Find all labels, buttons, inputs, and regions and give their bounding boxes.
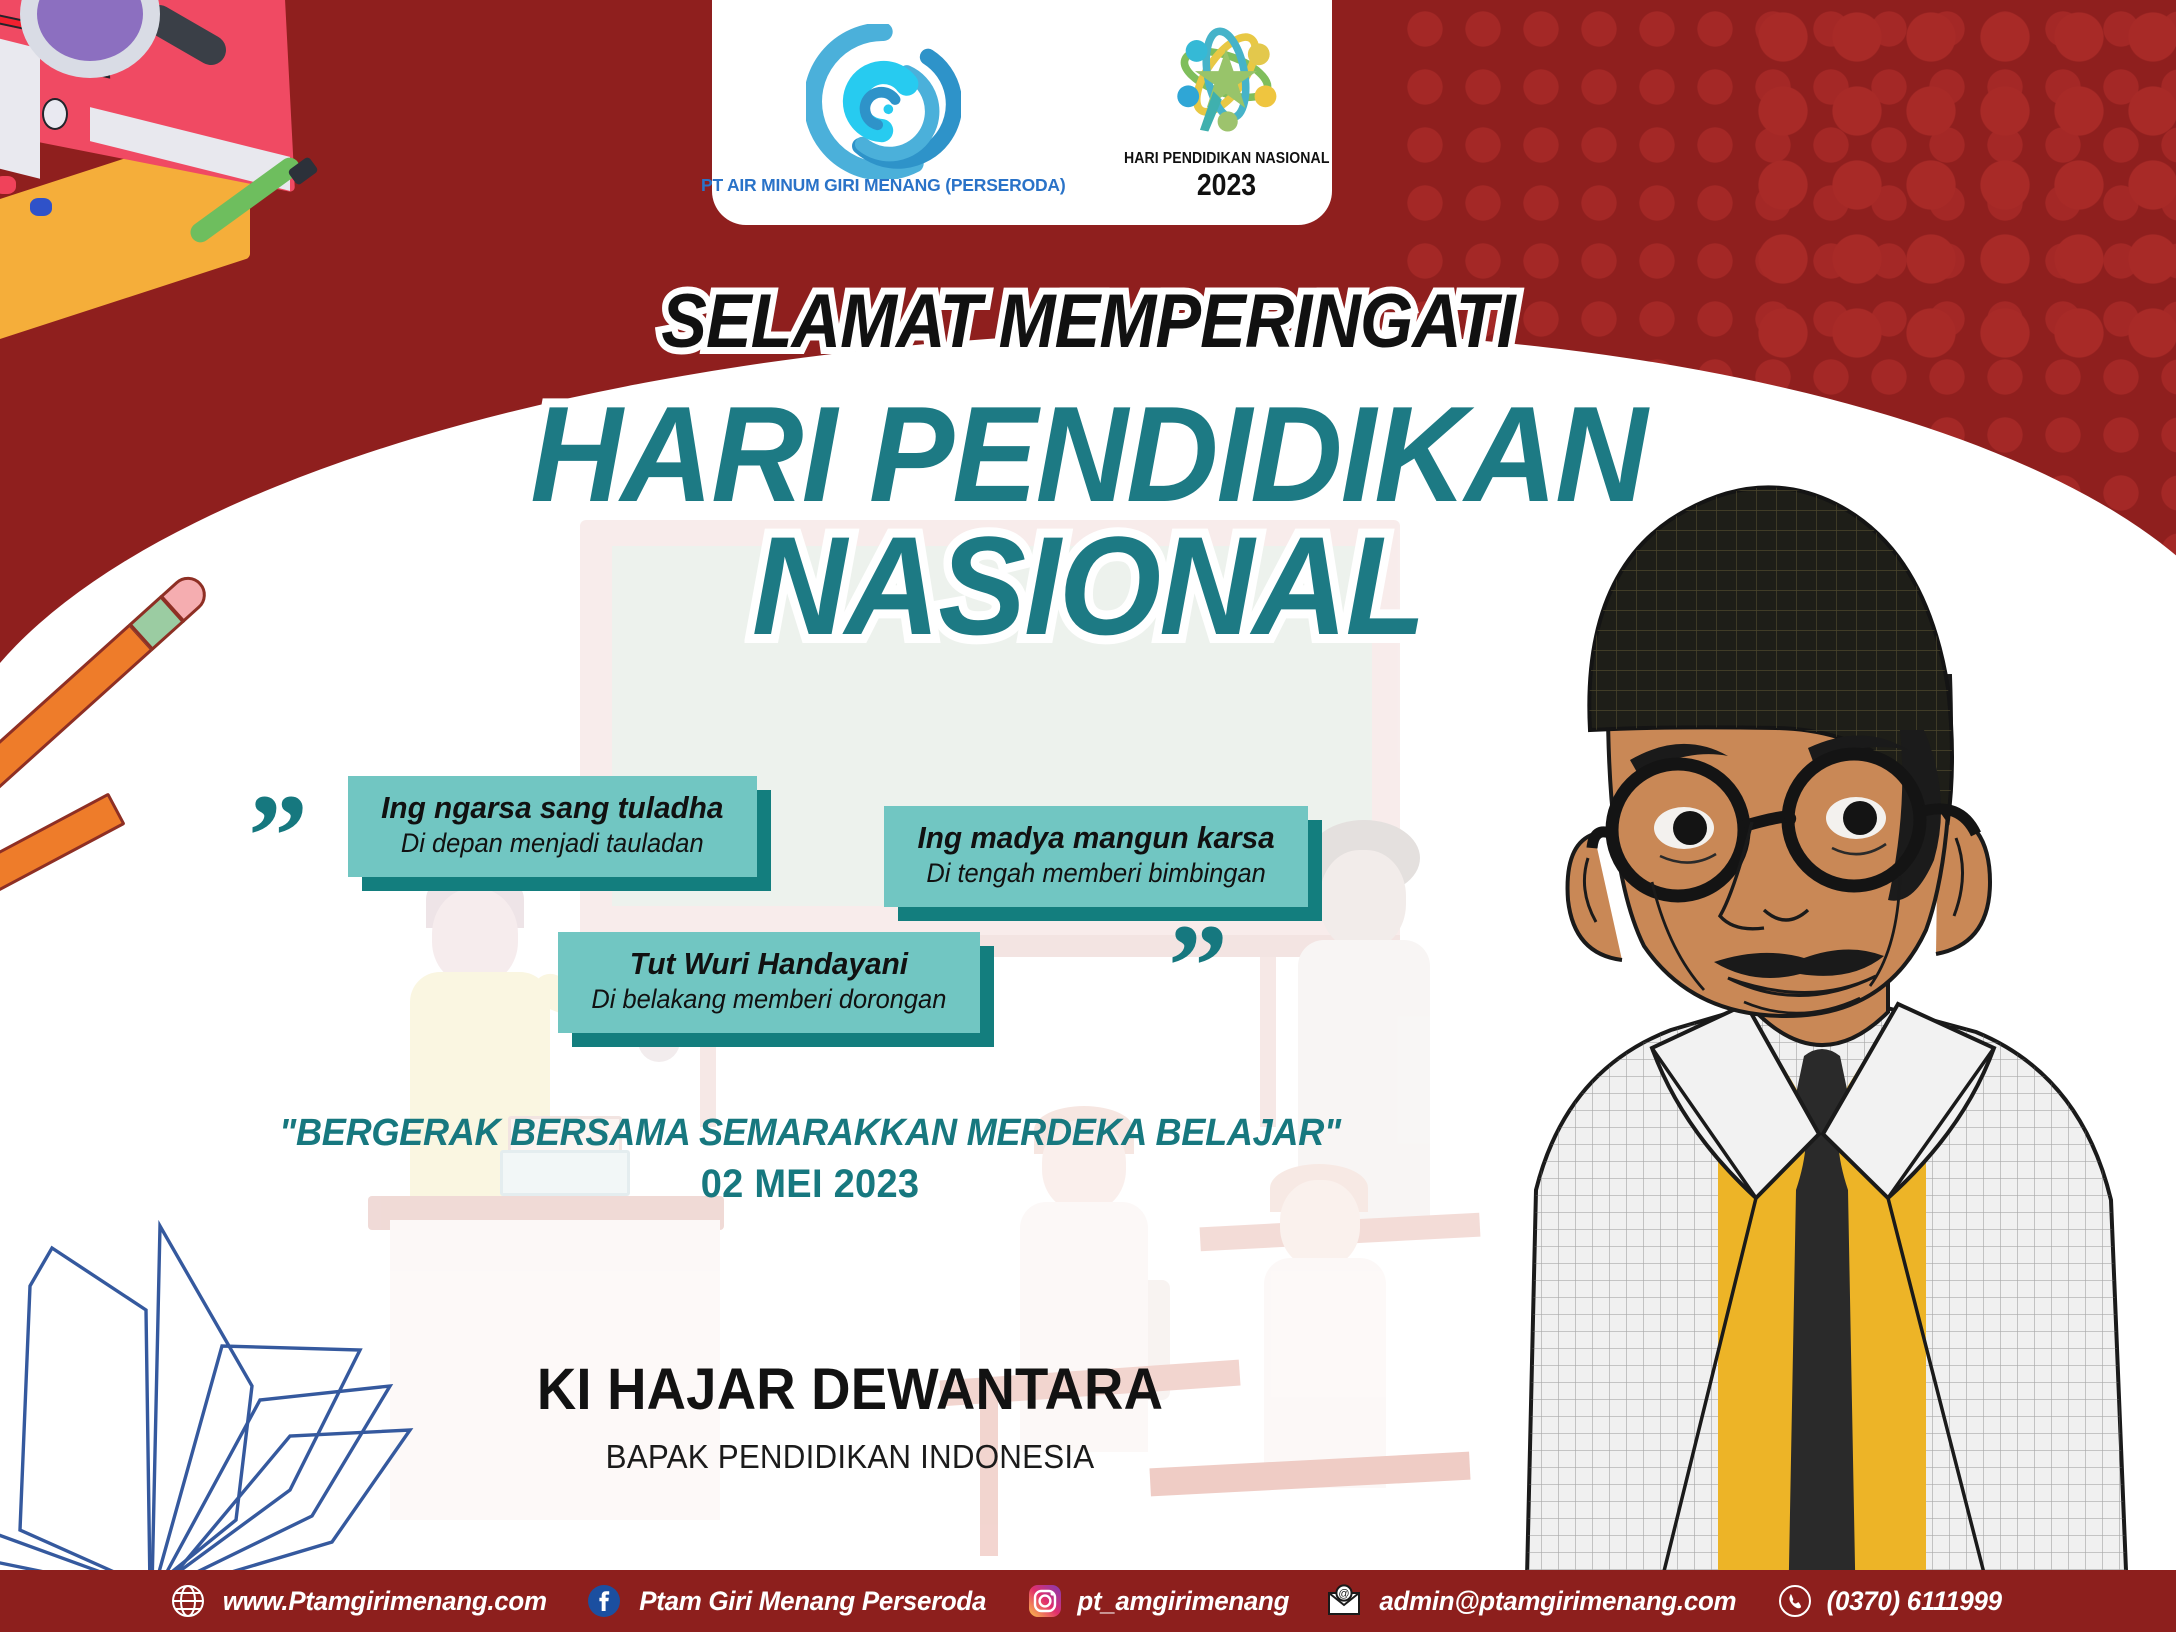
eyebrow-heading: SELAMAT MEMPERINGATI bbox=[109, 278, 2067, 365]
footer-item-facebook[interactable]: Ptam Giri Menang Perseroda bbox=[587, 1584, 993, 1618]
hardiknas-star-people-logo-icon bbox=[1163, 19, 1289, 150]
quote-box-3: Tut Wuri Handayani Di belakang memberi d… bbox=[558, 932, 980, 1033]
footer-item-phone[interactable]: (0370) 6111999 bbox=[1778, 1584, 2005, 1618]
quote-box-2: Ing madya mangun karsa Di tengah memberi… bbox=[884, 806, 1308, 907]
quote-javanese: Ing madya mangun karsa bbox=[917, 820, 1274, 856]
poster-canvas: PT AIR MINUM GIRI MENANG (PERSERODA) bbox=[0, 0, 2176, 1632]
logo-card: PT AIR MINUM GIRI MENANG (PERSERODA) bbox=[712, 0, 1332, 225]
footer-label: Ptam Giri Menang Perseroda bbox=[639, 1586, 986, 1617]
footer-label: admin@ptamgirimenang.com bbox=[1380, 1586, 1737, 1617]
quote-indonesian: Di belakang memberi dorongan bbox=[591, 984, 946, 1015]
ki-hajar-dewantara-portrait bbox=[1456, 430, 2176, 1620]
hardiknas-logo-block: HARI PENDIDIKAN NASIONAL 2023 bbox=[1110, 19, 1344, 200]
footer-label: www.Ptamgirimenang.com bbox=[222, 1586, 546, 1617]
quote-indonesian: Di tengah memberi bimbingan bbox=[917, 858, 1274, 889]
case-study-binder-illustration bbox=[0, 0, 350, 280]
facebook-icon bbox=[587, 1584, 621, 1618]
hardiknas-caption-year: 2023 bbox=[1197, 169, 1256, 200]
quote-indonesian: Di depan menjadi tauladan bbox=[381, 828, 723, 859]
quote-mark-open: ” bbox=[248, 800, 308, 872]
footer-item-email[interactable]: @ admin@ptamgirimenang.com bbox=[1327, 1584, 1744, 1618]
figure-name: KI HAJAR DEWANTARA bbox=[333, 1356, 1367, 1423]
instagram-icon bbox=[1028, 1584, 1062, 1618]
water-spiral-logo-icon bbox=[806, 24, 961, 179]
water-company-logo-block: PT AIR MINUM GIRI MENANG (PERSERODA) bbox=[701, 24, 1066, 196]
figure-subtitle: BAPAK PENDIDIKAN INDONESIA bbox=[328, 1438, 1373, 1476]
slogan-date: 02 MEI 2023 bbox=[278, 1162, 1342, 1207]
footer-item-website[interactable]: www.Ptamgirimenang.com bbox=[171, 1584, 553, 1618]
footer-label: (0370) 6111999 bbox=[1826, 1586, 2001, 1617]
phone-icon bbox=[1778, 1584, 1812, 1618]
footer-label: pt_amgirimenang bbox=[1077, 1586, 1289, 1617]
slogan-text: "BERGERAK BERSAMA SEMARAKKAN MERDEKA BEL… bbox=[278, 1112, 1342, 1155]
svg-text:@: @ bbox=[1339, 1588, 1350, 1600]
orange-pencils-illustration bbox=[0, 660, 260, 1000]
footer-item-instagram[interactable]: pt_amgirimenang bbox=[1028, 1584, 1294, 1618]
quote-javanese: Ing ngarsa sang tuladha bbox=[381, 790, 723, 826]
email-icon: @ bbox=[1327, 1584, 1361, 1618]
quote-box-1: Ing ngarsa sang tuladha Di depan menjadi… bbox=[348, 776, 757, 877]
quote-javanese: Tut Wuri Handayani bbox=[591, 946, 946, 982]
hardiknas-caption-line1: HARI PENDIDIKAN NASIONAL bbox=[1124, 150, 1330, 168]
quote-mark-close: ” bbox=[1168, 930, 1228, 1002]
globe-icon bbox=[171, 1584, 205, 1618]
footer-bar: www.Ptamgirimenang.com Ptam Giri Menang … bbox=[0, 1570, 2176, 1632]
